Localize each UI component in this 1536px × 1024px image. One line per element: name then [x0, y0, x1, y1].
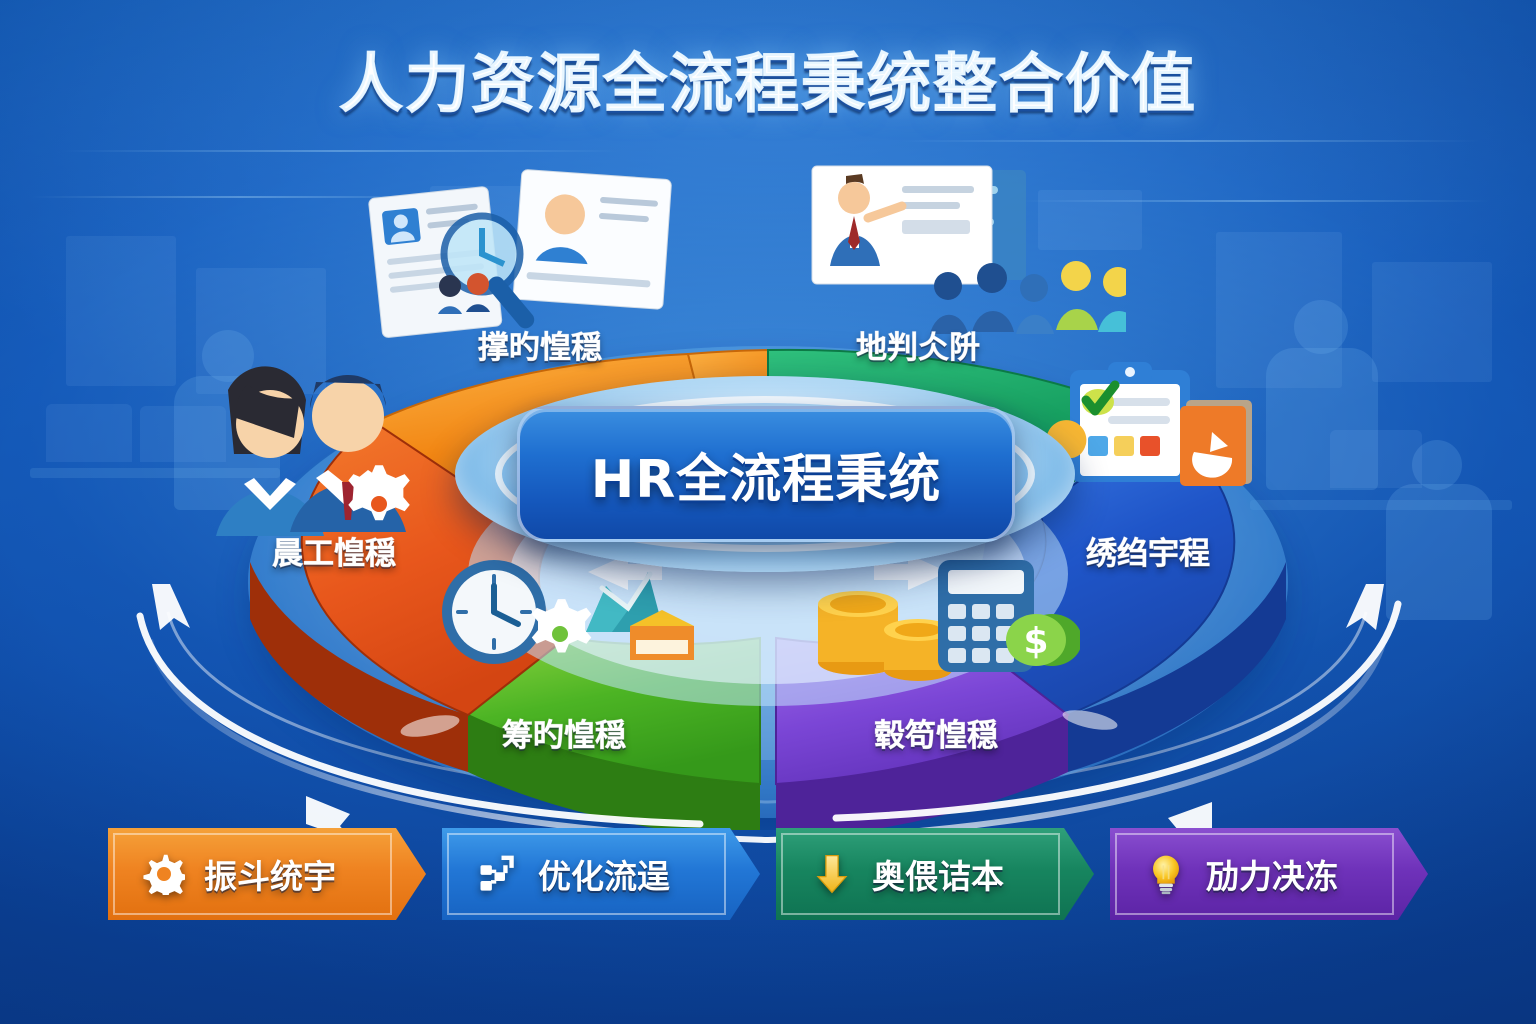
benefit-label-cost: 奥偎诘本: [872, 850, 1004, 898]
flowchart-icon: [476, 852, 520, 896]
segment-label-payroll: 毂笱惶穏: [874, 710, 998, 755]
down-arrow-icon: [810, 852, 854, 896]
center-hub: HR全流程秉统: [455, 370, 1075, 580]
lightbulb-icon: [1144, 852, 1188, 896]
benefit-chip-cost[interactable]: 奥偎诘本: [776, 828, 1094, 920]
benefit-chip-decision[interactable]: 劢力决冻: [1110, 828, 1428, 920]
benefit-label-decision: 劢力决冻: [1206, 850, 1338, 898]
segment-label-training: 地判仌阩: [856, 322, 980, 367]
gear-icon: [142, 852, 186, 896]
infographic-canvas: 人力资源全流程秉统整合价值: [0, 0, 1536, 1024]
page-title-container: 人力资源全流程秉统整合价值: [0, 52, 1536, 119]
hub-label: HR全流程秉统: [591, 437, 942, 512]
benefit-chip-efficiency[interactable]: 振斗统宇: [108, 828, 426, 920]
hub-badge[interactable]: HR全流程秉统: [517, 406, 1015, 542]
segment-label-recruiting: 撑旳惶穏: [478, 322, 602, 367]
segment-label-employee: 晨工惶穏: [272, 528, 396, 573]
benefit-label-process: 优化流逞: [538, 850, 670, 898]
segment-label-attendance: 筹旳惶穏: [502, 710, 626, 755]
benefit-label-efficiency: 振斗统宇: [204, 850, 336, 898]
svg-text:$: $: [1023, 621, 1048, 662]
page-title: 人力资源全流程秉统整合价值: [339, 52, 1197, 119]
benefit-chip-row: 振斗统宇 优化流逞: [108, 828, 1428, 920]
benefit-chip-process[interactable]: 优化流逞: [442, 828, 760, 920]
segment-label-performance: 绣绉宇程: [1086, 528, 1210, 573]
